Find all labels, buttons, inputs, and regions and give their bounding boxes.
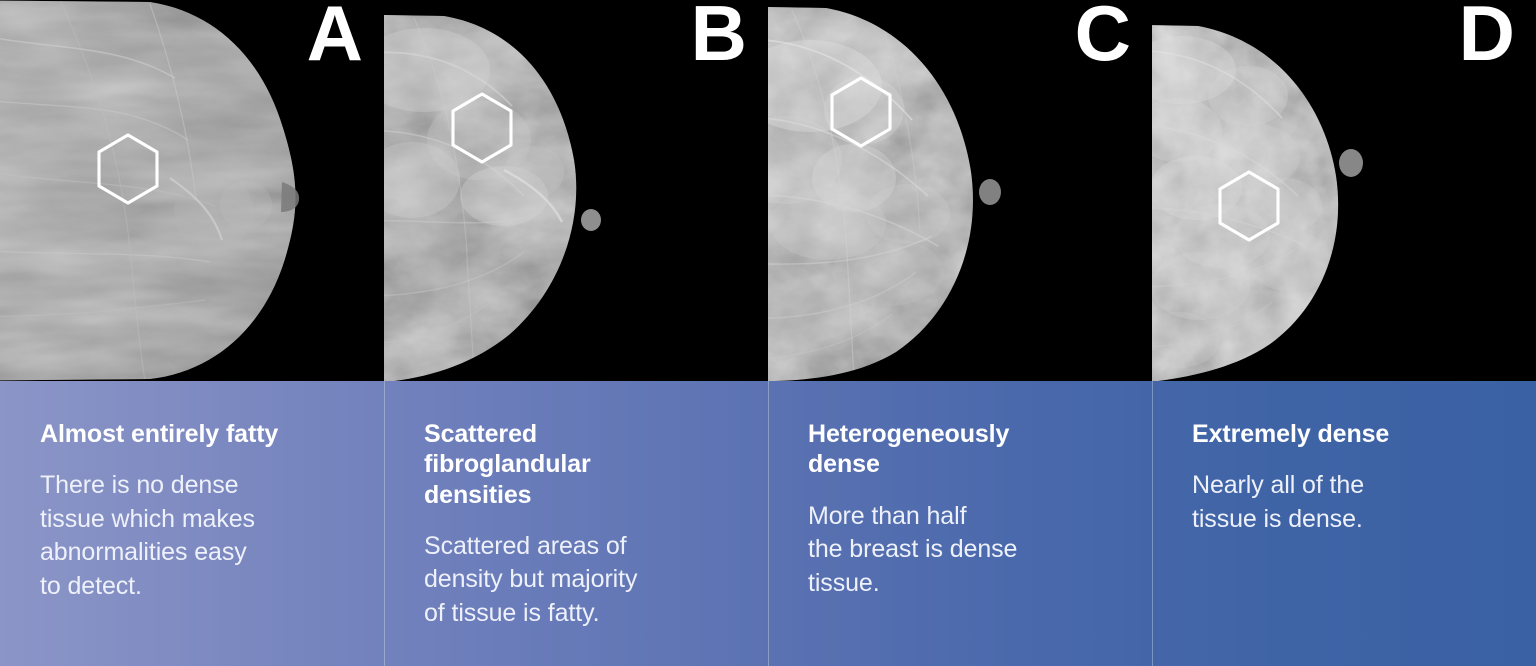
caption-body-b: Scattered areas of density but majority … <box>424 530 726 631</box>
mammogram-panel-a: A <box>0 0 384 381</box>
mammogram-panel-c: C <box>768 0 1152 381</box>
panel-letter-a: A <box>307 0 362 72</box>
caption-title-c: Heterogeneously dense <box>808 419 1110 480</box>
caption-title-a: Almost entirely fatty <box>40 419 342 449</box>
mammogram-panel-d: D <box>1152 0 1536 381</box>
caption-title-b: Scattered fibroglandular densities <box>424 419 726 510</box>
breast-density-infographic: A <box>0 0 1536 666</box>
caption-body-d: Nearly all of the tissue is dense. <box>1192 469 1494 536</box>
caption-panel-b: Scattered fibroglandular densities Scatt… <box>384 381 768 666</box>
caption-body-c: More than half the breast is dense tissu… <box>808 500 1110 601</box>
panel-letter-b: B <box>691 0 746 72</box>
caption-body-a: There is no dense tissue which makes abn… <box>40 469 342 603</box>
panel-letter-d: D <box>1459 0 1514 72</box>
caption-panel-c: Heterogeneously dense More than half the… <box>768 381 1152 666</box>
caption-panel-d: Extremely dense Nearly all of the tissue… <box>1152 381 1536 666</box>
caption-title-d: Extremely dense <box>1192 419 1494 449</box>
panel-letter-c: C <box>1075 0 1130 72</box>
mammogram-image-band: A <box>0 0 1536 381</box>
caption-band: Almost entirely fatty There is no dense … <box>0 381 1536 666</box>
caption-panel-a: Almost entirely fatty There is no dense … <box>0 381 384 666</box>
mammogram-panel-b: B <box>384 0 768 381</box>
